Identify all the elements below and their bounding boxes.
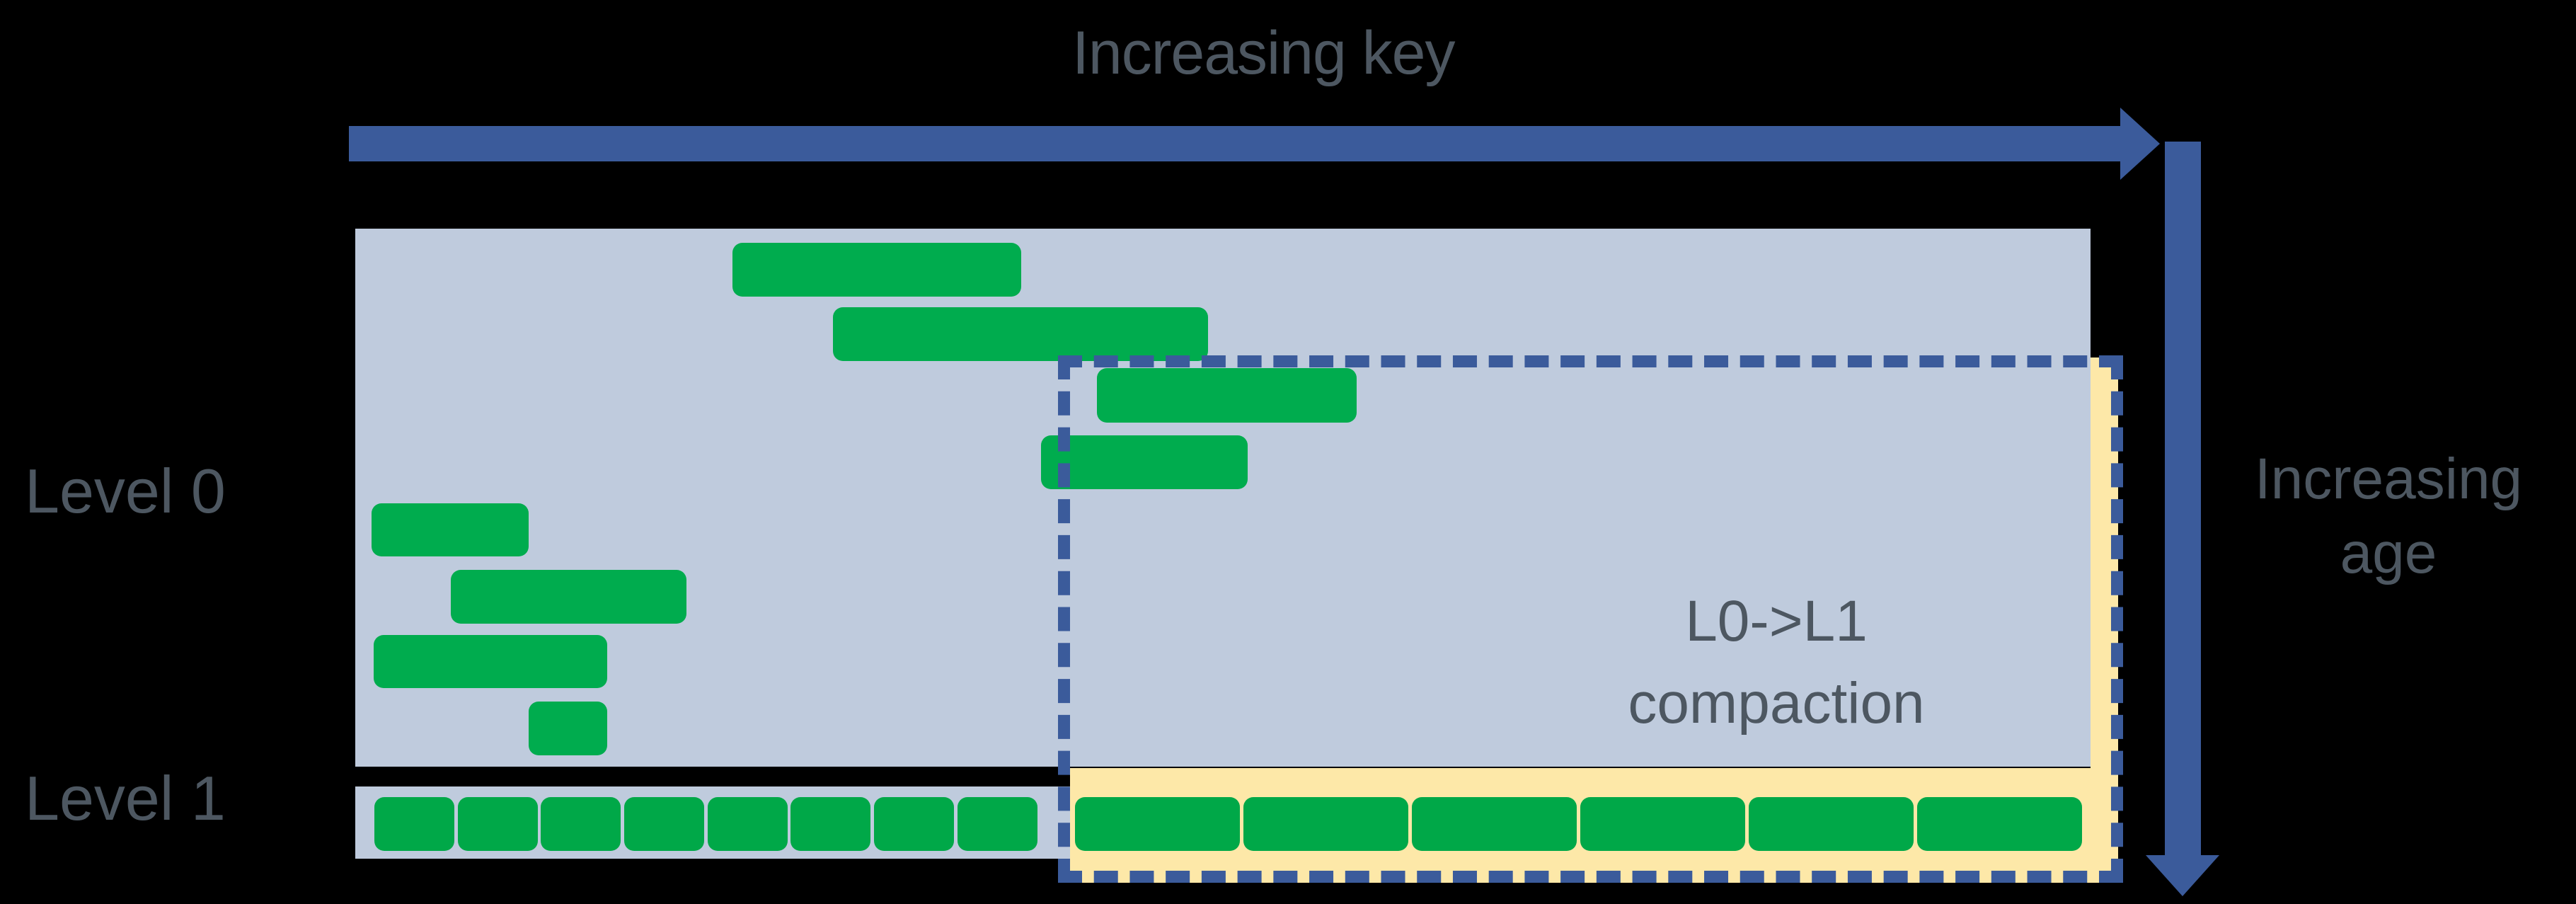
compaction-label-line2: compaction: [1557, 663, 1996, 745]
right-arrow-icon: [2120, 108, 2160, 180]
sstable-block: [458, 797, 538, 851]
sstable-block: [1097, 368, 1357, 423]
sstable-block: [874, 797, 954, 851]
down-arrow-icon: [2146, 855, 2219, 896]
sstable-block: [1075, 797, 1240, 851]
sstable-block: [529, 702, 607, 755]
sstable-block: [1041, 435, 1248, 489]
lsm-compaction-diagram: Increasing key Increasing age Level 0 Le…: [0, 0, 2576, 904]
compaction-label: L0->L1 compaction: [1557, 580, 1996, 745]
sstable-block: [790, 797, 870, 851]
sstable-block: [1749, 797, 1914, 851]
increasing-age-arrow-shaft: [2165, 142, 2201, 857]
sstable-block: [708, 797, 788, 851]
sstable-block: [1243, 797, 1408, 851]
sstable-block: [1917, 797, 2082, 851]
compaction-label-line1: L0->L1: [1557, 580, 1996, 663]
sstable-block: [732, 243, 1021, 297]
sstable-block: [374, 797, 454, 851]
sstable-block: [451, 570, 686, 624]
sstable-block: [1412, 797, 1577, 851]
sstable-block: [374, 635, 607, 688]
sstable-block: [1580, 797, 1745, 851]
sstable-block: [372, 503, 529, 556]
sstable-block: [833, 307, 1208, 361]
increasing-key-arrow-shaft: [349, 126, 2122, 161]
level-0-label: Level 0: [25, 459, 226, 524]
sstable-block: [624, 797, 704, 851]
level-1-label: Level 1: [25, 766, 226, 831]
increasing-age-label: Increasing age: [2236, 442, 2541, 591]
increasing-key-label: Increasing key: [1072, 21, 1455, 85]
sstable-block: [958, 797, 1037, 851]
sstable-block: [541, 797, 621, 851]
